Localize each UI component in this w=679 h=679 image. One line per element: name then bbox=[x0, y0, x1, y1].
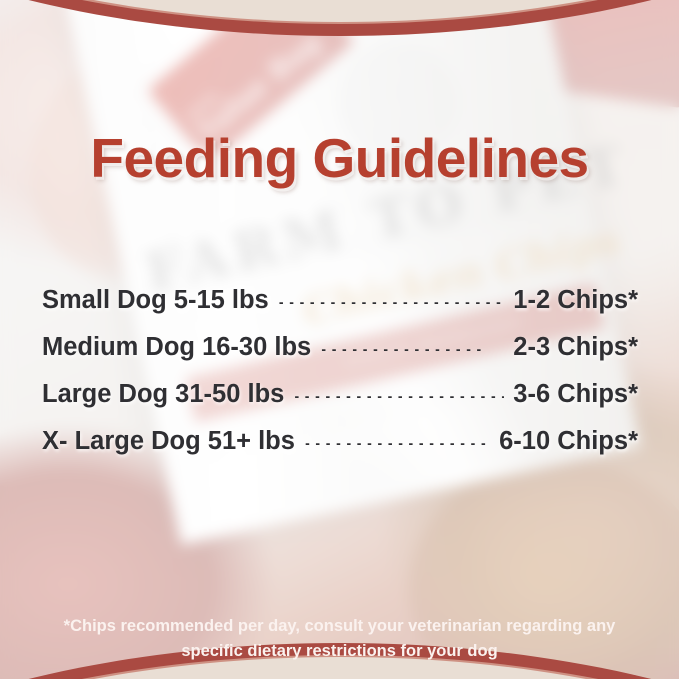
feeding-row-amount: 2-3 Chips* bbox=[513, 333, 638, 362]
feeding-row-amount: 1-2 Chips* bbox=[513, 286, 638, 315]
feeding-row-small: Small Dog 5-15 lbs .....................… bbox=[42, 286, 638, 333]
footnote-text: *Chips recommended per day, consult your… bbox=[0, 614, 679, 664]
feeding-row-label: Large Dog 31-50 lbs bbox=[42, 380, 284, 409]
feeding-guidelines-card: NEW Value Bag FARM TO PET Chicken Chips … bbox=[0, 0, 679, 679]
feeding-row-label: Small Dog 5-15 lbs bbox=[42, 286, 269, 315]
feeding-row-leader: ..................... bbox=[304, 425, 490, 445]
feeding-row-label: X- Large Dog 51+ lbs bbox=[42, 427, 295, 456]
feeding-table: Small Dog 5-15 lbs .....................… bbox=[42, 286, 638, 474]
feeding-row-xlarge: X- Large Dog 51+ lbs ...................… bbox=[42, 427, 638, 474]
page-title: Feeding Guidelines bbox=[0, 126, 679, 190]
feeding-row-leader: ...................... bbox=[293, 378, 504, 398]
feeding-row-medium: Medium Dog 16-30 lbs ................ 2-… bbox=[42, 333, 638, 380]
card-content: Feeding Guidelines Small Dog 5-15 lbs ..… bbox=[0, 0, 679, 679]
feeding-row-large: Large Dog 31-50 lbs ....................… bbox=[42, 380, 638, 427]
feeding-row-amount: 6-10 Chips* bbox=[499, 427, 638, 456]
feeding-row-leader: ................ bbox=[320, 331, 504, 351]
feeding-row-amount: 3-6 Chips* bbox=[513, 380, 638, 409]
feeding-row-label: Medium Dog 16-30 lbs bbox=[42, 333, 311, 362]
feeding-row-leader: ........................ bbox=[278, 284, 505, 304]
